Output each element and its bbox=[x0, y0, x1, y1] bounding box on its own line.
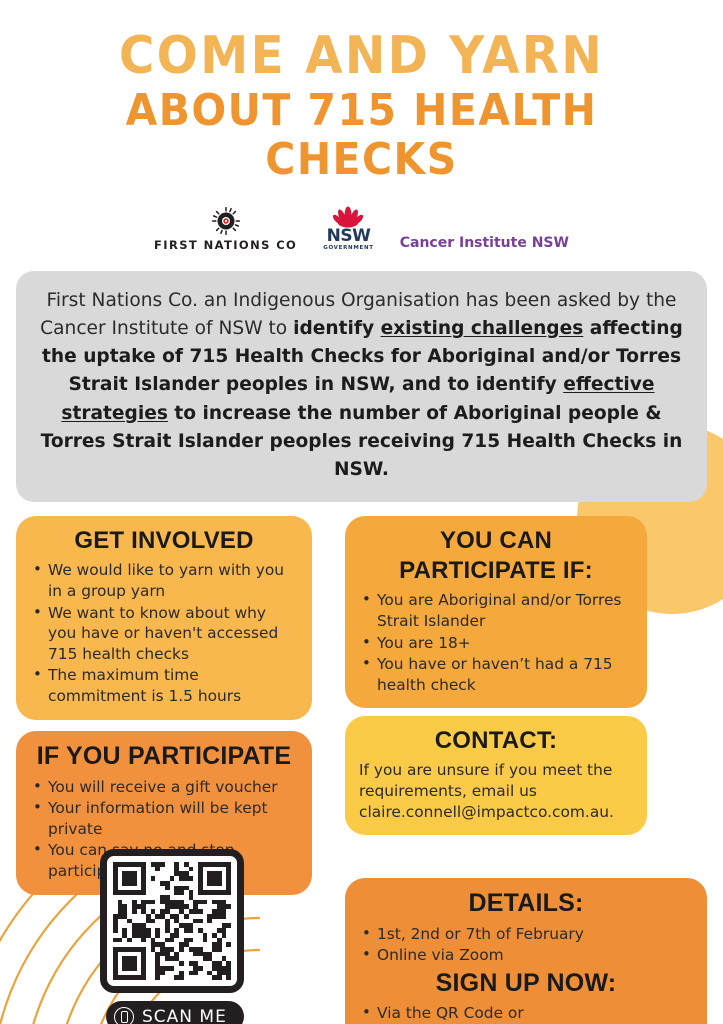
qr-code-icon[interactable] bbox=[113, 862, 231, 980]
card-participate-if: YOU CAN PARTICIPATE IF: You are Aborigin… bbox=[345, 516, 647, 708]
logo-row: FIRST NATIONS CO NSW GOVERNMENT Cancer I… bbox=[0, 201, 723, 257]
list-item: 1st, 2nd or 7th of February bbox=[359, 924, 693, 945]
page-title-line1: COME AND YARN bbox=[25, 30, 697, 82]
list-item: Online via Zoom bbox=[359, 945, 693, 966]
list-item: You are Aboriginal and/or Torres Strait … bbox=[359, 590, 633, 631]
nsw-label: NSW bbox=[327, 228, 371, 245]
list-item: You will receive a gift voucher bbox=[30, 777, 298, 798]
nsw-government-sublabel: GOVERNMENT bbox=[323, 245, 373, 252]
intro-statement: First Nations Co. an Indigenous Organisa… bbox=[16, 271, 707, 503]
list-item: The maximum time commitment is 1.5 hours bbox=[30, 665, 298, 706]
scan-me-badge[interactable]: SCAN ME bbox=[106, 1001, 244, 1024]
card-get-involved: GET INVOLVED We would like to yarn with … bbox=[16, 516, 312, 719]
intro-underline-existing-challenges: existing challenges bbox=[381, 318, 584, 339]
qr-code-frame[interactable] bbox=[100, 849, 244, 993]
card-contact: CONTACT: If you are unsure if you meet t… bbox=[345, 716, 647, 835]
card-details-list: 1st, 2nd or 7th of February Online via Z… bbox=[359, 924, 693, 966]
poster-root: COME AND YARN ABOUT 715 HEALTH CHECKS bbox=[0, 0, 723, 1024]
card-participate-if-list: You are Aboriginal and/or Torres Strait … bbox=[359, 590, 633, 695]
first-nations-co-label: FIRST NATIONS CO bbox=[154, 238, 297, 252]
page-title-line2: ABOUT 715 HEALTH CHECKS bbox=[25, 86, 697, 185]
list-item: Your information will be kept private bbox=[30, 798, 298, 839]
page-header: COME AND YARN ABOUT 715 HEALTH CHECKS bbox=[0, 0, 723, 185]
qr-section: SCAN ME bbox=[100, 849, 244, 1024]
card-contact-body: If you are unsure if you meet the requir… bbox=[359, 760, 633, 823]
list-item: We would like to yarn with you in a grou… bbox=[30, 560, 298, 601]
cancer-institute-nsw-label: Cancer Institute NSW bbox=[400, 235, 569, 251]
sunburst-icon bbox=[211, 206, 241, 236]
card-details-title: DETAILS: bbox=[359, 888, 693, 919]
card-details-signup-title: SIGN UP NOW: bbox=[359, 968, 693, 999]
list-item: We want to know about why you have or ha… bbox=[30, 603, 298, 665]
card-details-signup-list: Via the QR Code or https://calendly.com/… bbox=[359, 1003, 693, 1024]
intro-bold-identify: identify bbox=[293, 318, 380, 339]
phone-icon bbox=[114, 1007, 134, 1024]
list-item: Via the QR Code or bbox=[359, 1003, 693, 1024]
card-get-involved-title: GET INVOLVED bbox=[30, 526, 298, 556]
list-item: You are 18+ bbox=[359, 633, 633, 654]
card-details: DETAILS: 1st, 2nd or 7th of February Onl… bbox=[345, 878, 707, 1024]
card-participate-if-title: YOU CAN PARTICIPATE IF: bbox=[359, 526, 633, 586]
card-get-involved-list: We would like to yarn with you in a grou… bbox=[30, 560, 298, 706]
logo-nsw-government: NSW GOVERNMENT bbox=[323, 204, 373, 252]
card-contact-title: CONTACT: bbox=[359, 726, 633, 756]
list-item: You have or haven’t had a 715 health che… bbox=[359, 654, 633, 695]
waratah-icon bbox=[331, 204, 365, 228]
card-if-you-participate-title: IF YOU PARTICIPATE bbox=[30, 741, 298, 772]
logo-first-nations-co: FIRST NATIONS CO bbox=[154, 206, 297, 252]
scan-me-label: SCAN ME bbox=[142, 1007, 227, 1024]
